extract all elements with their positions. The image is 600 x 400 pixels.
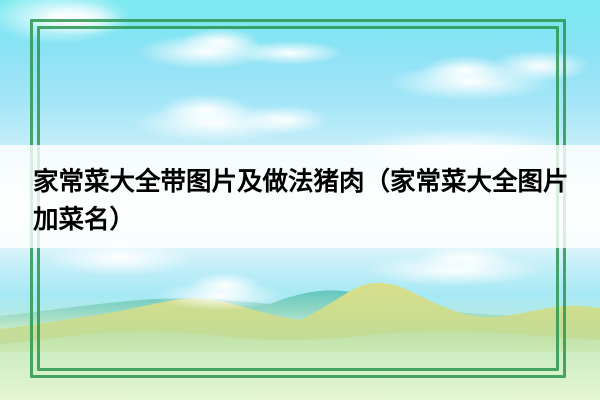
cover-image-canvas: 家常菜大全带图片及做法猪肉（家常菜大全图片加菜名） [0,0,600,400]
page-title: 家常菜大全带图片及做法猪肉（家常菜大全图片加菜名） [33,163,573,239]
